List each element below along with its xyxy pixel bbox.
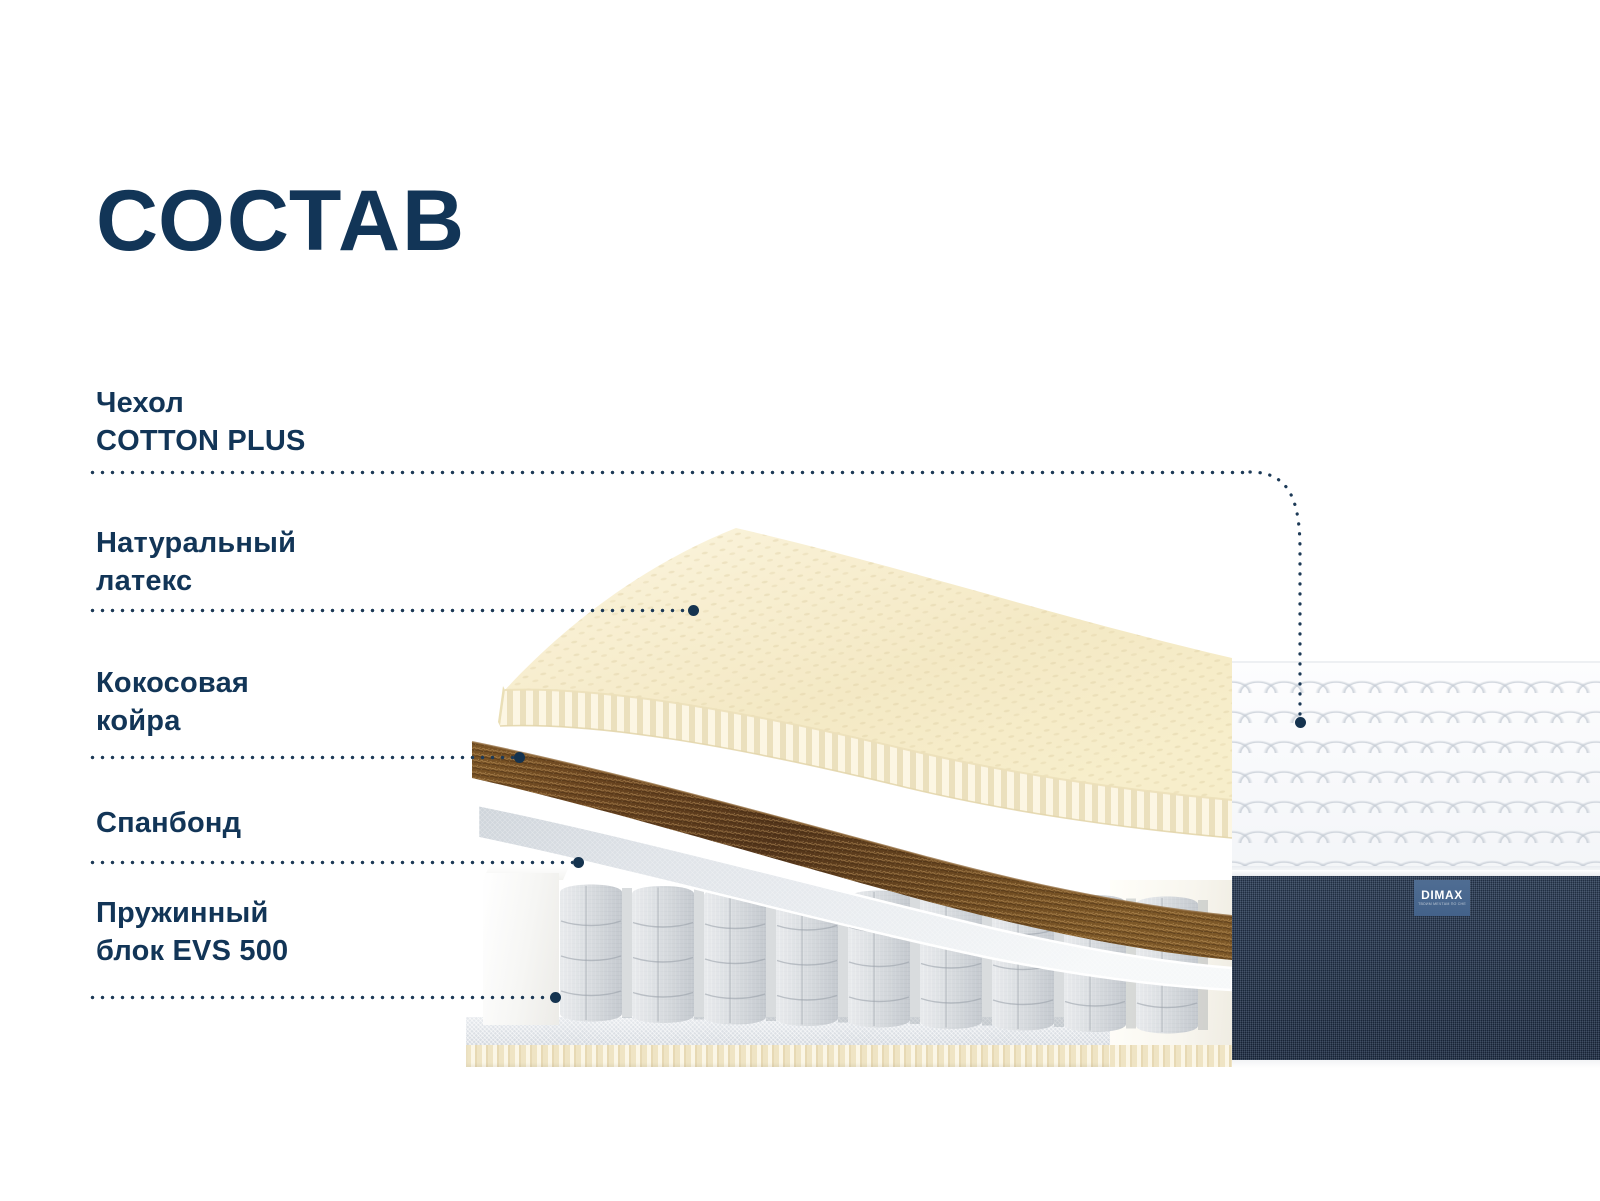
cover-quilted-top	[1232, 661, 1600, 878]
dimax-brand-name: DIMAX	[1421, 889, 1463, 901]
leader-line-coir	[90, 755, 514, 760]
legend-item-springs: Пружинный блок EVS 500	[96, 894, 288, 971]
leader-marker-springs	[550, 992, 561, 1003]
leader-marker-latex	[688, 605, 699, 616]
leader-marker-coir	[514, 752, 525, 763]
leader-line-springs	[90, 995, 550, 1000]
legend-item-cover: Чехол COTTON PLUS	[96, 384, 306, 461]
leader-line-spunbond	[90, 860, 573, 865]
dimax-brand-tagline: ТВОИМ МЕЧТАМ ПО СНЕ	[1418, 903, 1466, 907]
leader-line-cover	[90, 470, 1250, 475]
dimax-brand-label: DIMAX ТВОИМ МЕЧТАМ ПО СНЕ	[1414, 880, 1470, 916]
composition-infographic: СОСТАВ	[0, 0, 1600, 1201]
leader-marker-spunbond	[573, 857, 584, 868]
leader-marker-cover	[1295, 717, 1306, 728]
legend-item-spunbond: Спанбонд	[96, 804, 241, 842]
leader-line-latex	[90, 608, 688, 613]
legend-item-latex: Натуральный латекс	[96, 524, 296, 601]
cover-bottom-edge	[1232, 1060, 1600, 1068]
legend-item-coir: Кокосовая койра	[96, 664, 249, 741]
